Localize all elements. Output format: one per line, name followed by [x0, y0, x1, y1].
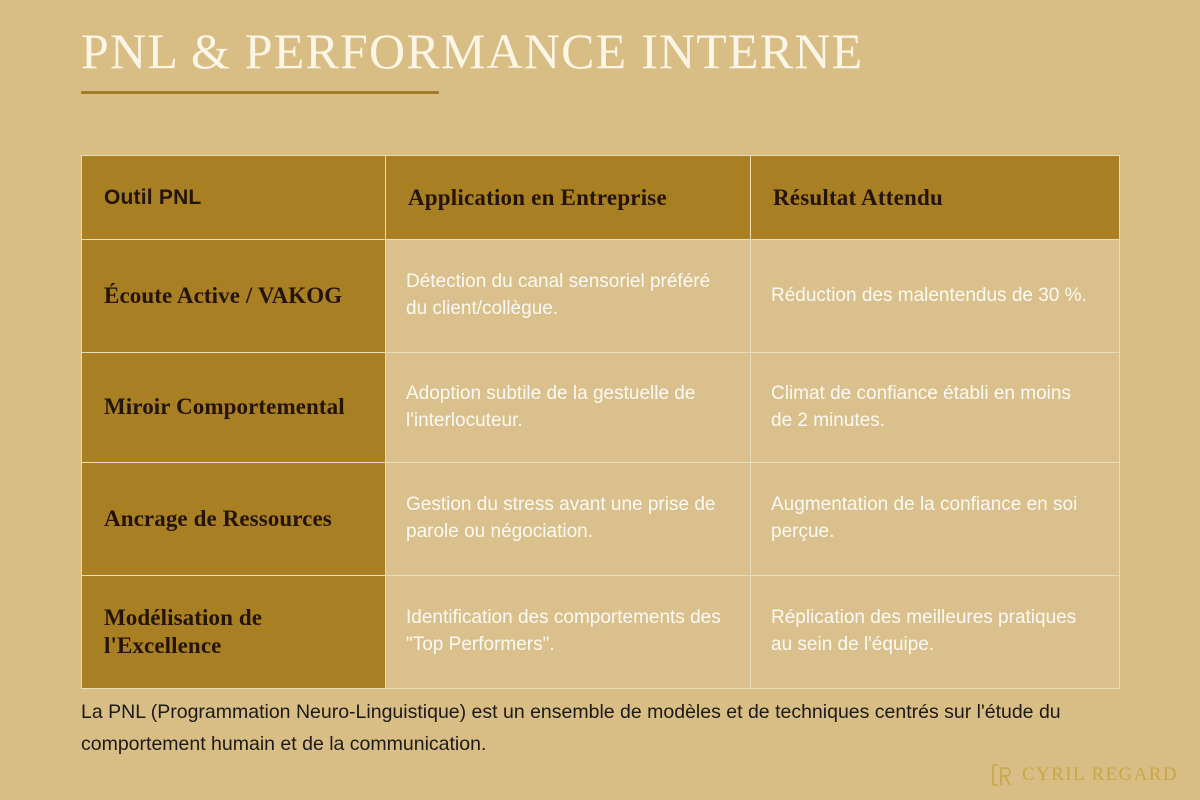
- footer-caption: La PNL (Programmation Neuro-Linguistique…: [81, 697, 1106, 760]
- column-header-tool-label: Outil PNL: [104, 186, 201, 209]
- cell-result: Réplication des meilleures pratiques au …: [751, 576, 1120, 689]
- cell-result: Réduction des malentendus de 30 %.: [751, 240, 1120, 353]
- page-title: PNL & PERFORMANCE INTERNE: [81, 24, 1121, 78]
- table-container: Outil PNL Application en Entreprise Résu…: [81, 155, 1119, 689]
- brand-logo: CYRIL REGARD: [989, 762, 1178, 788]
- table-row: Modélisation de l'Excellence Identificat…: [82, 576, 1120, 689]
- cell-application-text: Gestion du stress avant une prise de par…: [406, 492, 726, 546]
- column-header-tool: Outil PNL: [82, 156, 386, 240]
- cr-monogram-icon: [989, 762, 1015, 788]
- cell-tool: Ancrage de Ressources: [82, 463, 386, 576]
- cell-result: Climat de confiance établi en moins de 2…: [751, 353, 1120, 463]
- column-header-application-label: Application en Entreprise: [408, 185, 667, 210]
- column-header-application: Application en Entreprise: [386, 156, 751, 240]
- cell-result: Augmentation de la confiance en soi perç…: [751, 463, 1120, 576]
- cell-result-text: Augmentation de la confiance en soi perç…: [771, 492, 1091, 546]
- title-underline-rule: [81, 91, 439, 94]
- cell-tool: Modélisation de l'Excellence: [82, 576, 386, 689]
- title-block: PNL & PERFORMANCE INTERNE: [81, 24, 1121, 94]
- brand-logo-text: CYRIL REGARD: [1022, 764, 1178, 786]
- cell-result-text: Climat de confiance établi en moins de 2…: [771, 381, 1091, 435]
- cell-application-text: Adoption subtile de la gestuelle de l'in…: [406, 381, 726, 435]
- cell-application: Gestion du stress avant une prise de par…: [386, 463, 751, 576]
- table-body: Écoute Active / VAKOG Détection du canal…: [82, 240, 1120, 689]
- column-header-result-label: Résultat Attendu: [773, 185, 943, 210]
- slide-canvas: PNL & PERFORMANCE INTERNE Outil PNL Appl…: [0, 0, 1200, 800]
- table-row: Miroir Comportemental Adoption subtile d…: [82, 353, 1120, 463]
- cell-application: Identification des comportements des "To…: [386, 576, 751, 689]
- cell-result-text: Réplication des meilleures pratiques au …: [771, 605, 1091, 659]
- cell-tool: Écoute Active / VAKOG: [82, 240, 386, 353]
- cell-application: Détection du canal sensoriel préféré du …: [386, 240, 751, 353]
- table-header: Outil PNL Application en Entreprise Résu…: [82, 156, 1120, 240]
- table-row: Ancrage de Ressources Gestion du stress …: [82, 463, 1120, 576]
- table-header-row: Outil PNL Application en Entreprise Résu…: [82, 156, 1120, 240]
- cell-application-text: Identification des comportements des "To…: [406, 605, 726, 659]
- cell-tool: Miroir Comportemental: [82, 353, 386, 463]
- cell-result-text: Réduction des malentendus de 30 %.: [771, 283, 1091, 310]
- cell-application-text: Détection du canal sensoriel préféré du …: [406, 269, 726, 323]
- pnl-table: Outil PNL Application en Entreprise Résu…: [81, 155, 1120, 689]
- cell-application: Adoption subtile de la gestuelle de l'in…: [386, 353, 751, 463]
- table-row: Écoute Active / VAKOG Détection du canal…: [82, 240, 1120, 353]
- column-header-result: Résultat Attendu: [751, 156, 1120, 240]
